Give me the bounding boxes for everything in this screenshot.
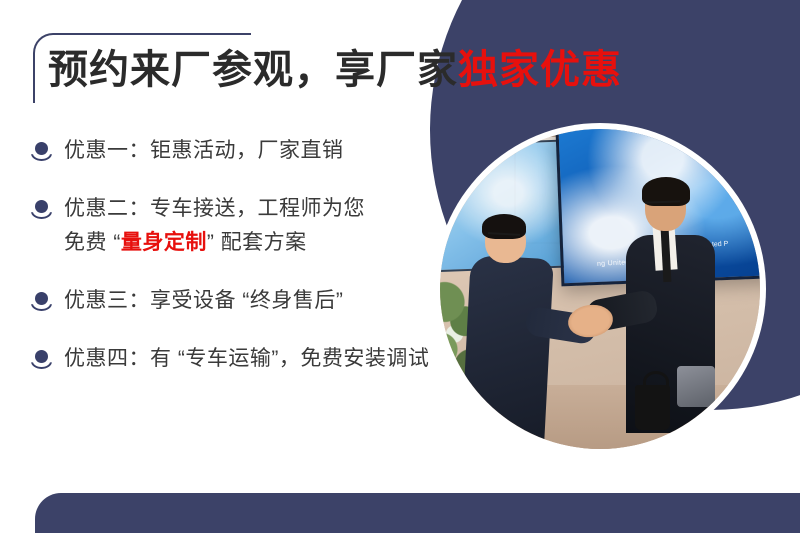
navy-dot-arc-icon <box>30 198 54 224</box>
photo-handbag <box>635 385 670 430</box>
navy-dot-arc-icon <box>30 140 54 166</box>
handshake-business-photo: ng United ted P <box>434 123 766 455</box>
navy-dot-arc-icon <box>30 348 54 374</box>
list-item-text: 优惠二：专车接送，工程师为您 免费 “量身定制” 配套方案 <box>64 192 365 260</box>
list-item-line-2: 免费 “量身定制” 配套方案 <box>64 226 365 260</box>
promo-banner: 预约来厂参观，享厂家独家优惠 优惠一：钜惠活动，厂家直销 优惠二：专车接送，工程… <box>0 0 800 533</box>
list-item-text: 优惠一：钜惠活动，厂家直销 <box>64 134 344 168</box>
benefits-list: 优惠一：钜惠活动，厂家直销 优惠二：专车接送，工程师为您 免费 “量身定制” 配… <box>30 134 460 400</box>
list-item-line-1: 优惠三：享受设备 “终身售后” <box>64 289 343 312</box>
list-item-line-1: 优惠四：有 “专车运输”，免费安装调试 <box>64 347 429 370</box>
page-title: 预约来厂参观，享厂家独家优惠 <box>48 46 622 94</box>
list-item: 优惠一：钜惠活动，厂家直销 <box>30 134 460 168</box>
line-2-prefix: 免费 “ <box>64 231 121 254</box>
list-item-text: 优惠三：享受设备 “终身售后” <box>64 284 343 318</box>
list-item: 优惠三：享受设备 “终身售后” <box>30 284 460 318</box>
line-2-highlight: 量身定制 <box>121 231 207 254</box>
list-item-line-1: 优惠一：钜惠活动，厂家直销 <box>64 139 344 162</box>
list-item-text: 优惠四：有 “专车运输”，免费安装调试 <box>64 342 429 376</box>
navy-bottom-bar-decoration <box>35 493 800 533</box>
headline-highlight-text: 独家优惠 <box>458 48 622 92</box>
photo-content: ng United ted P <box>440 129 760 449</box>
photo-briefcase <box>677 366 715 408</box>
list-item: 优惠四：有 “专车运输”，免费安装调试 <box>30 342 460 376</box>
photo-screen-text-2: ted P <box>712 241 729 249</box>
list-item: 优惠二：专车接送，工程师为您 免费 “量身定制” 配套方案 <box>30 192 460 260</box>
photo-person-left-body <box>461 255 554 445</box>
navy-dot-arc-icon <box>30 290 54 316</box>
headline-normal-text: 预约来厂参观，享厂家 <box>48 48 458 92</box>
list-item-line-1: 优惠二：专车接送，工程师为您 <box>64 197 365 220</box>
line-2-suffix: ” 配套方案 <box>207 231 307 254</box>
